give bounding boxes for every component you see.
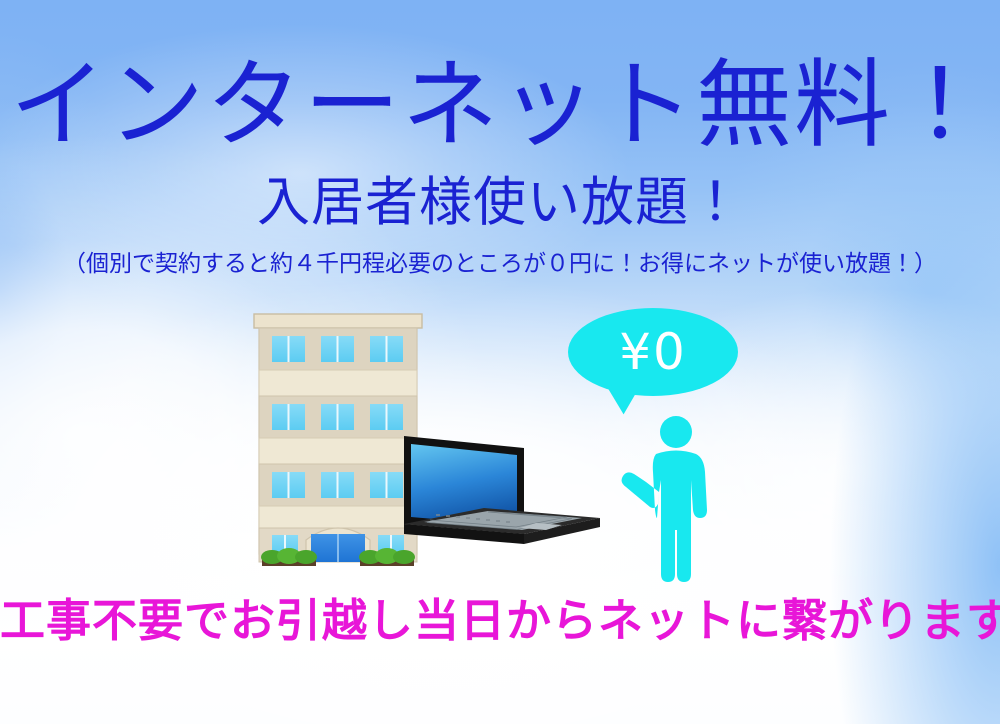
poster-canvas: ¥0 インターネット無料！ 入居者様使い放題！ （個別で契約すると約４千円程必要… xyxy=(0,0,1000,724)
laptop-illustration xyxy=(396,430,608,570)
speech-bubble-label: ¥0 xyxy=(568,308,738,396)
footer-tagline: 工事不要でお引越し当日からネットに繋がります xyxy=(0,598,1000,643)
person-pictogram-icon xyxy=(612,414,742,586)
page-title-headline: インターネット無料！ xyxy=(0,58,1000,154)
page-subtitle: 入居者様使い放題！ xyxy=(0,176,1000,229)
price-note-text: （個別で契約すると約４千円程必要のところが０円に！お得にネットが使い放題！） xyxy=(0,252,1000,275)
speech-bubble-icon: ¥0 xyxy=(568,308,748,428)
